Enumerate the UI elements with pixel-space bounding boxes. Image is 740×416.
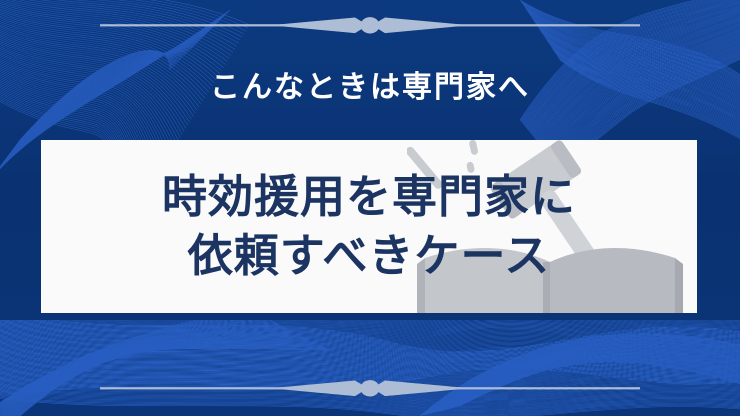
- title-line-1: 時効援用を専門家に: [162, 168, 576, 227]
- title-line-2: 依頼すべきケース: [188, 227, 551, 286]
- top-divider-ornament: [0, 11, 740, 41]
- title-card: 時効援用を専門家に 依頼すべきケース: [41, 140, 697, 313]
- title-block: 時効援用を専門家に 依頼すべきケース: [41, 140, 697, 313]
- banner-root: こんなときは専門家へ: [0, 0, 740, 416]
- bottom-divider-ornament: [0, 374, 740, 404]
- subtitle-text: こんなときは専門家へ: [0, 70, 740, 106]
